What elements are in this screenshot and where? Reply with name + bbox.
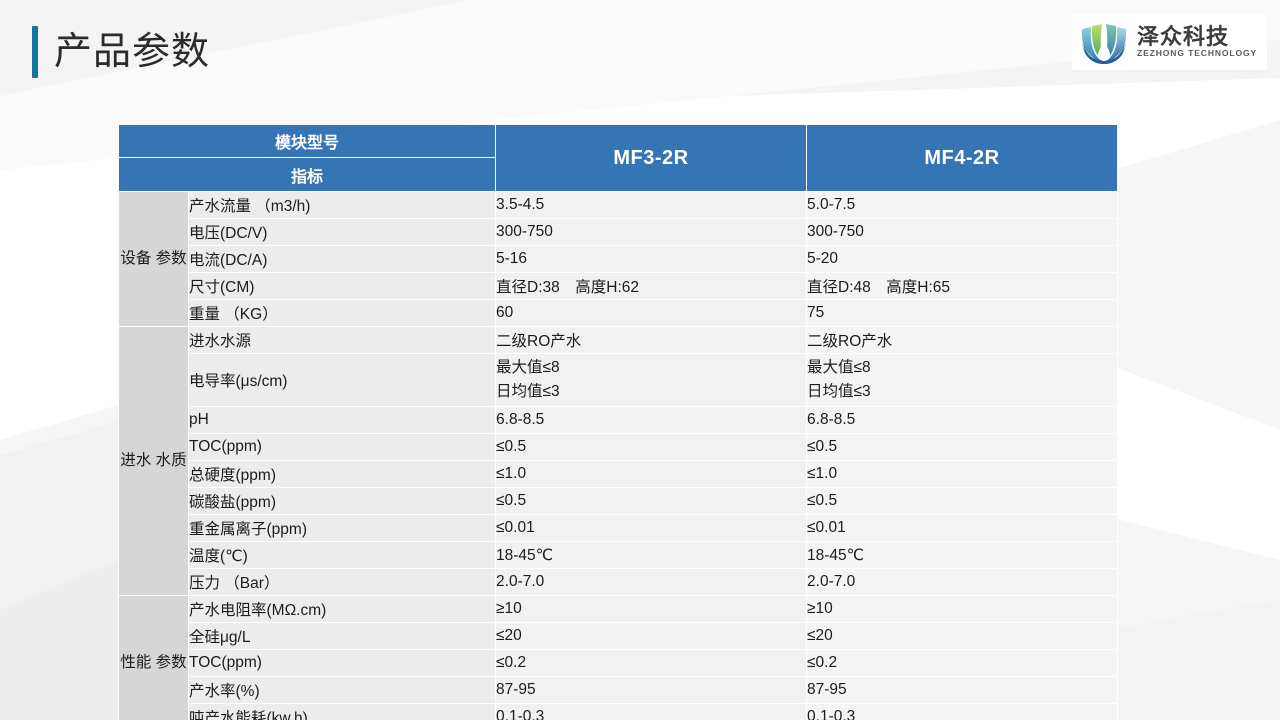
spec-value-mf4: 300-750 <box>807 219 1118 246</box>
table-row: 温度(℃) 18-45℃ 18-45℃ <box>119 542 1118 569</box>
spec-value-mf3: 18-45℃ <box>496 542 807 569</box>
spec-value-mf3: 3.5-4.5 <box>496 192 807 219</box>
spec-value-mf3: 2.0-7.0 <box>496 569 807 596</box>
spec-value-mf4: ≤0.01 <box>807 515 1118 542</box>
spec-item-name: 尺寸(CM) <box>189 273 496 300</box>
spec-value-mf3: ≤0.5 <box>496 488 807 515</box>
spec-value-mf3: ≤1.0 <box>496 461 807 488</box>
logo-name-en: ZEZHONG TECHNOLOGY <box>1137 48 1257 59</box>
spec-value-mf4: ≤0.5 <box>807 434 1118 461</box>
table-row: 吨产水能耗(kw.h) 0.1-0.3 0.1-0.3 <box>119 704 1118 720</box>
spec-value-mf3: 6.8-8.5 <box>496 407 807 434</box>
spec-value-mf3: ≤0.01 <box>496 515 807 542</box>
spec-value-mf3: 87-95 <box>496 677 807 704</box>
spec-value-mf3: ≤0.5 <box>496 434 807 461</box>
spec-item-name: 电导率(μs/cm) <box>189 354 496 407</box>
table-row: 设备 参数 产水流量 （m3/h) 3.5-4.5 5.0-7.5 <box>119 192 1118 219</box>
spec-value-mf4: ≤0.2 <box>807 650 1118 677</box>
header-cell-column-0[interactable]: MF3-2R <box>496 125 807 192</box>
slide-canvas: 产品参数 <box>0 0 1280 720</box>
spec-item-name: 温度(℃) <box>189 542 496 569</box>
group-label-equipment: 设备 参数 <box>119 192 189 327</box>
table-row: 重量 （KG） 60 75 <box>119 300 1118 327</box>
table-header-row-model: 模块型号 MF3-2R MF4-2R <box>119 125 1118 158</box>
spec-value-mf3: 最大值≤8 日均值≤3 <box>496 354 807 407</box>
table-row: 产水率(%) 87-95 87-95 <box>119 677 1118 704</box>
spec-value-mf4: 2.0-7.0 <box>807 569 1118 596</box>
table-row: 性能 参数 产水电阻率(MΩ.cm) ≥10 ≥10 <box>119 596 1118 623</box>
spec-value-mf4: 直径D:48 高度H:65 <box>807 273 1118 300</box>
table-row: 压力 （Bar） 2.0-7.0 2.0-7.0 <box>119 569 1118 596</box>
page-title: 产品参数 <box>54 33 210 71</box>
leaf-droplet-logo-icon <box>1078 19 1130 65</box>
spec-value-mf4: 87-95 <box>807 677 1118 704</box>
spec-item-name: 压力 （Bar） <box>189 569 496 596</box>
spec-item-name: 产水电阻率(MΩ.cm) <box>189 596 496 623</box>
spec-value-mf3: ≤0.2 <box>496 650 807 677</box>
group-label-line: 性能 <box>120 654 151 671</box>
group-label-line: 设备 <box>120 250 151 267</box>
table-row: 电压(DC/V) 300-750 300-750 <box>119 219 1118 246</box>
table-row: 重金属离子(ppm) ≤0.01 ≤0.01 <box>119 515 1118 542</box>
spec-value-mf4: 5.0-7.5 <box>807 192 1118 219</box>
table-row: 进水 水质 进水水源 二级RO产水 二级RO产水 <box>119 327 1118 354</box>
group-label-performance: 性能 参数 <box>119 596 189 720</box>
group-label-feedwater: 进水 水质 <box>119 327 189 596</box>
spec-value-line: 日均值≤3 <box>807 380 1117 404</box>
group-label-line: 参数 <box>156 654 187 671</box>
spec-value-mf3: 5-16 <box>496 246 807 273</box>
spec-item-name: 吨产水能耗(kw.h) <box>189 704 496 720</box>
table-row: 电流(DC/A) 5-16 5-20 <box>119 246 1118 273</box>
spec-value-mf3: 0.1-0.3 <box>496 704 807 720</box>
spec-value-mf4: 二级RO产水 <box>807 327 1118 354</box>
table-row: 碳酸盐(ppm) ≤0.5 ≤0.5 <box>119 488 1118 515</box>
product-spec-table: 模块型号 MF3-2R MF4-2R 指标 设备 参数 产水流量 （m3/h) … <box>118 124 1118 720</box>
spec-item-name: 产水流量 （m3/h) <box>189 192 496 219</box>
spec-value-mf4: ≤0.5 <box>807 488 1118 515</box>
spec-value-mf4: 18-45℃ <box>807 542 1118 569</box>
spec-value-mf4: ≤20 <box>807 623 1118 650</box>
spec-value-mf3: 60 <box>496 300 807 327</box>
title-accent-bar <box>32 26 38 78</box>
spec-value-mf3: 二级RO产水 <box>496 327 807 354</box>
spec-item-name: 全硅μg/L <box>189 623 496 650</box>
spec-value-mf3: 300-750 <box>496 219 807 246</box>
spec-item-name: 电压(DC/V) <box>189 219 496 246</box>
table-row: TOC(ppm) ≤0.2 ≤0.2 <box>119 650 1118 677</box>
header-cell-column-1[interactable]: MF4-2R <box>807 125 1118 192</box>
table-row: 电导率(μs/cm) 最大值≤8 日均值≤3 最大值≤8 日均值≤3 <box>119 354 1118 407</box>
spec-value-mf4: ≥10 <box>807 596 1118 623</box>
table-row: 尺寸(CM) 直径D:38 高度H:62 直径D:48 高度H:65 <box>119 273 1118 300</box>
spec-item-name: 碳酸盐(ppm) <box>189 488 496 515</box>
spec-item-name: pH <box>189 407 496 434</box>
spec-value-line: 最大值≤8 <box>807 356 1117 380</box>
spec-value-mf4: 最大值≤8 日均值≤3 <box>807 354 1118 407</box>
table-row: TOC(ppm) ≤0.5 ≤0.5 <box>119 434 1118 461</box>
spec-item-name: 电流(DC/A) <box>189 246 496 273</box>
logo-name-cn: 泽众科技 <box>1137 25 1257 48</box>
spec-value-mf4: ≤1.0 <box>807 461 1118 488</box>
spec-item-name: TOC(ppm) <box>189 650 496 677</box>
spec-table-body: 模块型号 MF3-2R MF4-2R 指标 设备 参数 产水流量 （m3/h) … <box>119 125 1118 720</box>
header-cell-model: 模块型号 <box>119 125 496 158</box>
spec-value-mf4: 0.1-0.3 <box>807 704 1118 720</box>
header-cell-index: 指标 <box>119 158 496 192</box>
logo-text: 泽众科技 ZEZHONG TECHNOLOGY <box>1137 25 1257 59</box>
group-label-line: 水质 <box>156 452 187 469</box>
spec-item-name: TOC(ppm) <box>189 434 496 461</box>
table-row: pH 6.8-8.5 6.8-8.5 <box>119 407 1118 434</box>
spec-value-mf3: 直径D:38 高度H:62 <box>496 273 807 300</box>
spec-item-name: 进水水源 <box>189 327 496 354</box>
spec-value-mf4: 6.8-8.5 <box>807 407 1118 434</box>
group-label-line: 参数 <box>156 250 187 267</box>
spec-value-mf4: 75 <box>807 300 1118 327</box>
table-row: 总硬度(ppm) ≤1.0 ≤1.0 <box>119 461 1118 488</box>
spec-item-name: 重量 （KG） <box>189 300 496 327</box>
spec-item-name: 总硬度(ppm) <box>189 461 496 488</box>
spec-value-mf4: 5-20 <box>807 246 1118 273</box>
company-logo: 泽众科技 ZEZHONG TECHNOLOGY <box>1072 14 1267 70</box>
page-title-group: 产品参数 <box>32 26 210 78</box>
spec-value-line: 日均值≤3 <box>496 380 806 404</box>
spec-item-name: 重金属离子(ppm) <box>189 515 496 542</box>
spec-value-mf3: ≤20 <box>496 623 807 650</box>
spec-item-name: 产水率(%) <box>189 677 496 704</box>
table-row: 全硅μg/L ≤20 ≤20 <box>119 623 1118 650</box>
group-label-line: 进水 <box>120 452 151 469</box>
spec-value-line: 最大值≤8 <box>496 356 806 380</box>
spec-value-mf3: ≥10 <box>496 596 807 623</box>
